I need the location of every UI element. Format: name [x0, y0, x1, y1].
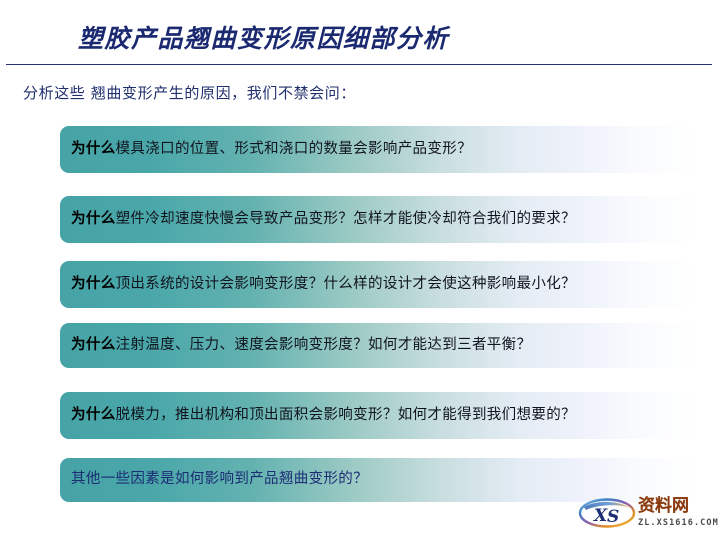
- question-body: 顶出系统的设计会影响变形度？什么样的设计才会使这种影响最小化？: [116, 276, 576, 292]
- xs-logo-icon: X S: [578, 498, 636, 528]
- svg-text:X: X: [593, 506, 608, 526]
- question-body: 塑件冷却速度快慢会导致产品变形？怎样才能使冷却符合我们的要求？: [116, 211, 576, 227]
- question-prefix: 为什么: [71, 141, 116, 157]
- watermark: X S 资料网 ZL.XS1616.COM: [578, 496, 716, 536]
- question-body: 脱模力，推出机构和顶出面积会影响变形？如何才能得到我们想要的？: [116, 407, 576, 423]
- question-body: 注射温度、压力、速度会影响变形度？如何才能达到三者平衡？: [116, 337, 532, 353]
- question-text: 其他一些因素是如何影响到产品翘曲变形的？: [71, 472, 368, 488]
- question-text: 为什么顶出系统的设计会影响变形度？什么样的设计才会使这种影响最小化？: [71, 277, 576, 293]
- question-text: 为什么脱模力，推出机构和顶出面积会影响变形？如何才能得到我们想要的？: [71, 408, 576, 424]
- question-list: 为什么模具浇口的位置、形式和浇口的数量会影响产品变形？ 为什么塑件冷却速度快慢会…: [0, 0, 720, 540]
- question-body: 模具浇口的位置、形式和浇口的数量会影响产品变形？: [116, 141, 472, 157]
- slide-canvas: 塑胶产品翘曲变形原因细部分析 分析这些 翘曲变形产生的原因，我们不禁会问： 为什…: [0, 0, 720, 540]
- question-text: 为什么注射温度、压力、速度会影响变形度？如何才能达到三者平衡？: [71, 338, 531, 354]
- question-prefix: 为什么: [71, 337, 116, 353]
- list-item: 为什么脱模力，推出机构和顶出面积会影响变形？如何才能得到我们想要的？: [60, 392, 696, 439]
- watermark-site-name: 资料网: [638, 496, 689, 516]
- list-item: 为什么顶出系统的设计会影响变形度？什么样的设计才会使这种影响最小化？: [60, 261, 696, 308]
- svg-text:S: S: [607, 507, 619, 527]
- question-text: 为什么塑件冷却速度快慢会导致产品变形？怎样才能使冷却符合我们的要求？: [71, 212, 576, 228]
- list-item: 为什么塑件冷却速度快慢会导致产品变形？怎样才能使冷却符合我们的要求？: [60, 196, 696, 243]
- question-prefix: 为什么: [71, 276, 116, 292]
- question-prefix: 为什么: [71, 407, 116, 423]
- watermark-url: ZL.XS1616.COM: [638, 518, 719, 528]
- question-text: 为什么模具浇口的位置、形式和浇口的数量会影响产品变形？: [71, 142, 472, 158]
- list-item: 为什么注射温度、压力、速度会影响变形度？如何才能达到三者平衡？: [60, 323, 696, 368]
- list-item: 为什么模具浇口的位置、形式和浇口的数量会影响产品变形？: [60, 126, 696, 173]
- question-body: 其他一些因素是如何影响到产品翘曲变形的？: [71, 471, 368, 487]
- question-prefix: 为什么: [71, 211, 116, 227]
